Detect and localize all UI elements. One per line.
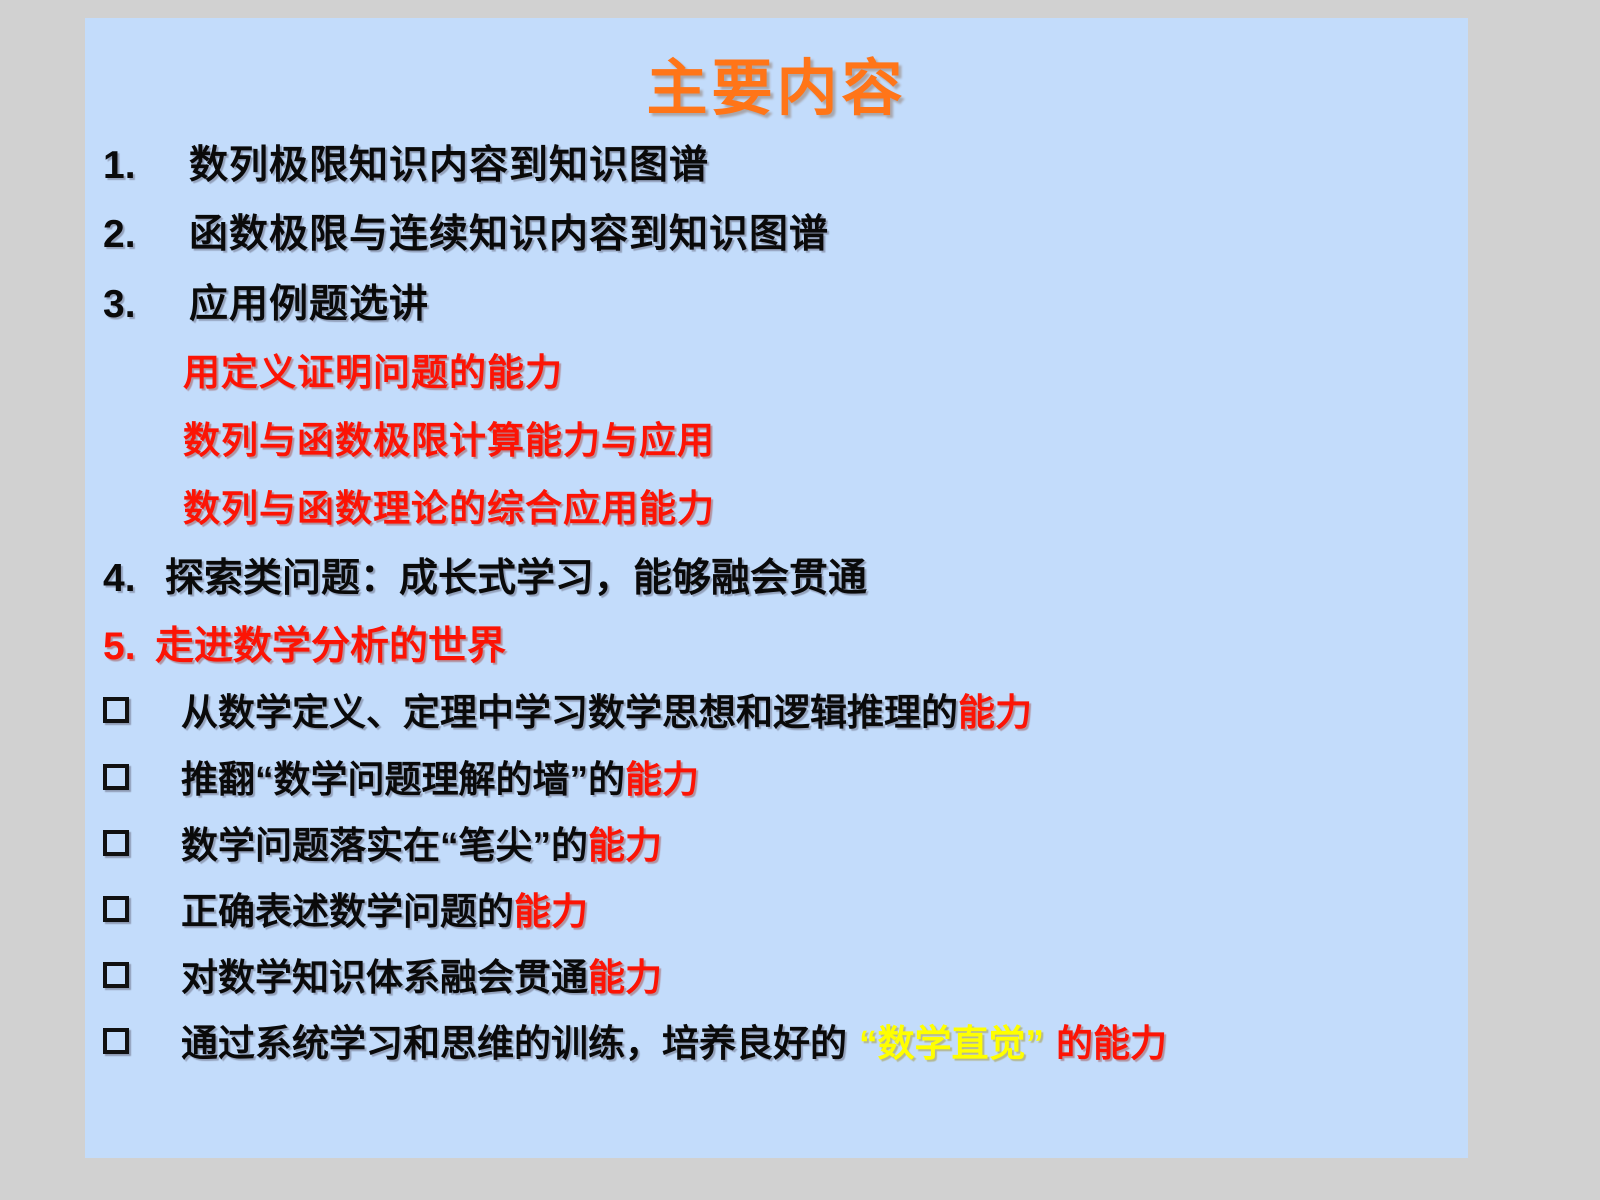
checkbox-red-tail: 能力 xyxy=(588,825,662,866)
list-marker: 2. xyxy=(103,214,189,255)
list-item-2: 2. 函数极限与连续知识内容到知识图谱 xyxy=(103,214,1468,255)
checkbox-item-5: 对数学知识体系融会贯通能力 xyxy=(103,958,1468,997)
checkbox-red-tail: 能力 xyxy=(588,957,662,998)
checkbox-item-4: 正确表述数学问题的能力 xyxy=(103,892,1468,931)
checkbox-yellow-emphasis: “数学直觉” xyxy=(859,1023,1044,1064)
checkbox-lead-text: 推翻“数学问题理解的墙”的 xyxy=(181,759,625,800)
sub-item-3: 数列与函数理论的综合应用能力 xyxy=(183,489,1468,528)
checkbox-item-label: 推翻“数学问题理解的墙”的能力 xyxy=(181,760,1468,799)
list-item-label: 探索类问题：成长式学习，能够融会贯通 xyxy=(165,558,1468,599)
list-item-label: 数列极限知识内容到知识图谱 xyxy=(189,145,1468,186)
list-item-4: 4. 探索类问题：成长式学习，能够融会贯通 xyxy=(103,558,1468,599)
checkbox-item-1: 从数学定义、定理中学习数学思想和逻辑推理的能力 xyxy=(103,693,1468,732)
checkbox-lead-text: 正确表述数学问题的 xyxy=(181,891,514,932)
checkbox-icon xyxy=(103,762,181,797)
checkbox-item-label: 对数学知识体系融会贯通能力 xyxy=(181,958,1468,997)
checkbox-item-label: 从数学定义、定理中学习数学思想和逻辑推理的能力 xyxy=(181,693,1468,732)
sub-item-2: 数列与函数极限计算能力与应用 xyxy=(183,421,1468,460)
list-marker: 4. xyxy=(103,558,165,599)
checkbox-icon xyxy=(103,1026,181,1061)
checkbox-icon xyxy=(103,894,181,929)
checkbox-item-6: 通过系统学习和思维的训练，培养良好的“数学直觉”的能力 xyxy=(103,1024,1468,1063)
content-list: 1. 数列极限知识内容到知识图谱 2. 函数极限与连续知识内容到知识图谱 3. … xyxy=(85,145,1468,1064)
list-item-3: 3. 应用例题选讲 xyxy=(103,284,1468,325)
sub-item-1: 用定义证明问题的能力 xyxy=(183,353,1468,392)
checkbox-item-label: 数学问题落实在“笔尖”的能力 xyxy=(181,826,1468,865)
list-marker: 1. xyxy=(103,145,189,186)
checkbox-item-label: 正确表述数学问题的能力 xyxy=(181,892,1468,931)
checkbox-lead-text: 从数学定义、定理中学习数学思想和逻辑推理的 xyxy=(181,692,958,733)
checkbox-icon xyxy=(103,960,181,995)
checkbox-item-3: 数学问题落实在“笔尖”的能力 xyxy=(103,826,1468,865)
list-item-1: 1. 数列极限知识内容到知识图谱 xyxy=(103,145,1468,186)
list-item-5: 5. 走进数学分析的世界 xyxy=(103,626,1468,667)
checkbox-red-tail: 能力 xyxy=(514,891,588,932)
checkbox-lead-text: 数学问题落实在“笔尖”的 xyxy=(181,825,588,866)
list-item-label: 应用例题选讲 xyxy=(189,284,1468,325)
checkbox-item-2: 推翻“数学问题理解的墙”的能力 xyxy=(103,760,1468,799)
checkbox-item-label: 通过系统学习和思维的训练，培养良好的“数学直觉”的能力 xyxy=(181,1024,1468,1063)
slide-canvas: 主要内容 1. 数列极限知识内容到知识图谱 2. 函数极限与连续知识内容到知识图… xyxy=(85,18,1468,1158)
checkbox-lead-text: 通过系统学习和思维的训练，培养良好的 xyxy=(181,1023,847,1064)
checkbox-red-tail: 能力 xyxy=(958,692,1032,733)
list-marker: 3. xyxy=(103,284,189,325)
checkbox-lead-text: 对数学知识体系融会贯通 xyxy=(181,957,588,998)
list-item-label: 函数极限与连续知识内容到知识图谱 xyxy=(189,214,1468,255)
checkbox-red-tail: 能力 xyxy=(625,759,699,800)
checkbox-red-tail: 的能力 xyxy=(1056,1023,1167,1064)
page-title: 主要内容 xyxy=(85,58,1468,119)
checkbox-icon xyxy=(103,828,181,863)
checkbox-icon xyxy=(103,695,181,730)
list-item-label: 走进数学分析的世界 xyxy=(155,626,1468,667)
list-marker: 5. xyxy=(103,626,155,667)
